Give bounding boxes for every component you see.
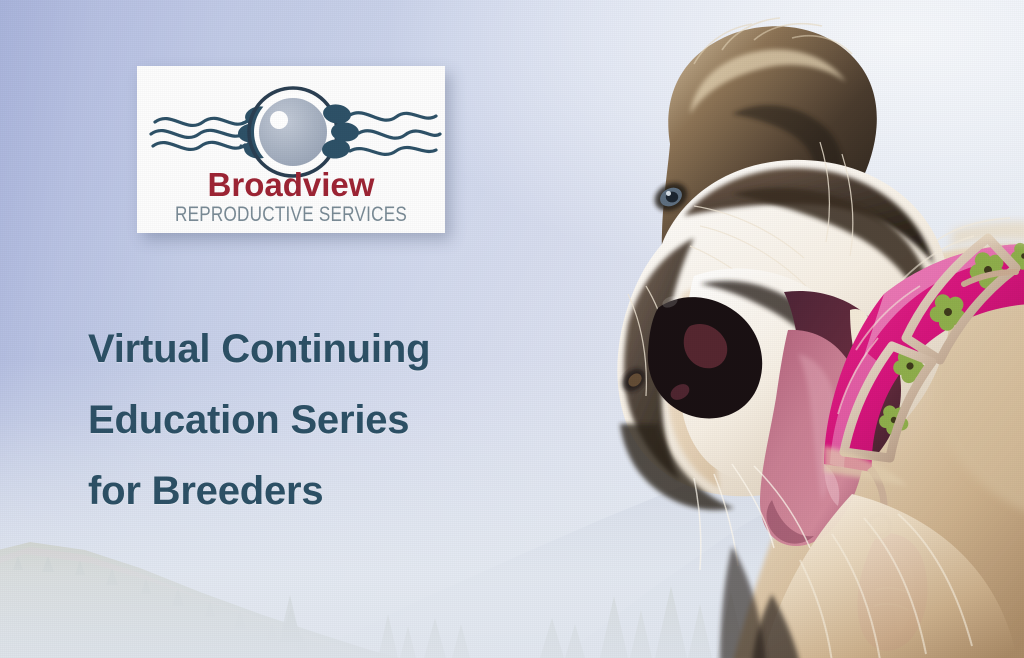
headline-line-1: Virtual Continuing <box>88 314 518 385</box>
logo-tagline: REPRODUCTIVE SERVICES <box>175 202 407 226</box>
broadview-logo-card[interactable]: Broadview REPRODUCTIVE SERVICES <box>137 66 445 233</box>
border-collie-illustration <box>432 0 1024 658</box>
headline: Virtual Continuing Education Series for … <box>88 314 518 527</box>
dog-photo <box>432 0 1024 658</box>
headline-line-2: Education Series <box>88 385 518 456</box>
headline-line-3: for Breeders <box>88 456 518 527</box>
logo-brand-name: Broadview <box>208 166 375 203</box>
promo-banner: Broadview REPRODUCTIVE SERVICES Virtual … <box>0 0 1024 658</box>
broadview-logo-icon: Broadview REPRODUCTIVE SERVICES <box>137 66 445 233</box>
